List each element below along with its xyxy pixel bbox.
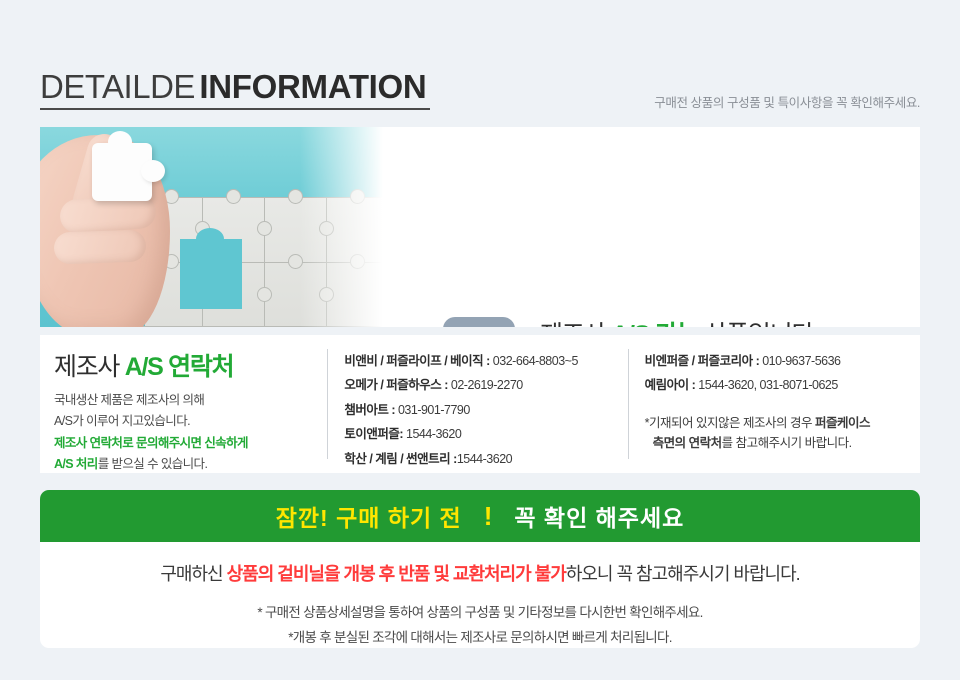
contact-footnote-bold-2: 측면의 연락처 — [653, 436, 722, 450]
contact-phone: 031-901-7790 — [395, 403, 470, 417]
notice-sub-line-2: *개봉 후 분실된 조각에 대해서는 제조사로 문의하시면 빠르게 처리됩니다. — [40, 626, 920, 651]
contact-description-line-4: A/S 처리를 받으실 수 있습니다. — [54, 454, 327, 475]
notice-sub-line-1: * 구매전 상품상세설명을 통하여 상품의 구성품 및 기타정보를 다시한번 확… — [40, 601, 920, 626]
contact-description: 국내생산 제품은 제조사의 의해 A/S가 이루어 지고있습니다. 제조사 연락… — [54, 390, 327, 475]
notice-main-line: 구매하신 상품의 겉비닐을 개봉 후 반품 및 교환처리가 불가하오니 꼭 참고… — [40, 562, 920, 587]
contact-name: 챔버아트 : — [344, 403, 395, 417]
contact-row: 학산 / 계림 / 썬앤트리 :1544-3620 — [344, 447, 627, 471]
gears-icon — [443, 317, 515, 327]
hero-text-block: 제조사 A/S 가능 상품입니다. 각 브랜드 제조사에서 직접 처리를 해드리… — [540, 315, 920, 327]
contact-name: 비엔퍼즐 / 퍼즐코리아 : — [645, 354, 760, 368]
hero-heading-green: A/S 가능 — [611, 321, 698, 327]
contact-footnote-rest: 를 참고해주시기 바랍니다. — [722, 436, 852, 450]
contact-phone: 02-2619-2270 — [448, 378, 523, 392]
contact-row: 비엔퍼즐 / 퍼즐코리아 : 010-9637-5636 — [645, 349, 920, 373]
exclamation-icon: ! — [484, 501, 493, 532]
banner-white-text: 꼭 확인 해주세요 — [514, 499, 684, 533]
contact-phone: 032-664-8803~5 — [490, 354, 578, 368]
contact-name: 예림아이 : — [645, 378, 696, 392]
contact-row: 예림아이 : 1544-3620, 031-8071-0625 — [645, 373, 920, 397]
contact-row: 토이앤퍼즐: 1544-3620 — [344, 422, 627, 446]
contact-description-line-2: A/S가 이루어 지고있습니다. — [54, 411, 327, 432]
contact-phone: 1544-3620 — [457, 452, 512, 466]
notice-main-pre: 구매하신 — [160, 564, 226, 584]
contact-description-line-4-green: A/S 처리 — [54, 457, 98, 471]
contact-footnote: *기재되어 있지않은 제조사의 경우 퍼즐케이스 측면의 연락처를 참고해주시기… — [645, 413, 920, 453]
puzzle-photo — [40, 127, 390, 327]
hand-photo — [40, 135, 170, 327]
page-title: DETAILDE INFORMATION — [40, 68, 430, 110]
manufacturer-contact-section: 제조사 A/S 연락처 국내생산 제품은 제조사의 의해 A/S가 이루어 지고… — [40, 335, 920, 473]
contact-name: 학산 / 계림 / 썬앤트리 : — [344, 452, 456, 466]
puzzle-missing-slot — [180, 239, 242, 309]
contact-name: 오메가 / 퍼즐하우스 : — [344, 378, 448, 392]
held-puzzle-piece — [92, 143, 152, 201]
contact-list-right: 비엔퍼즐 / 퍼즐코리아 : 010-9637-5636 예림아이 : 1544… — [629, 335, 920, 473]
page-header: DETAILDE INFORMATION 구매전 상품의 구성품 및 특이사항을… — [40, 68, 920, 116]
banner-yellow-text: 잠깐! 구매 하기 전 — [276, 499, 462, 533]
contact-footnote-pre: *기재되어 있지않은 제조사의 경우 — [645, 416, 815, 430]
page-title-bold: INFORMATION — [199, 68, 426, 105]
product-detail-page: DETAILDE INFORMATION 구매전 상품의 구성품 및 특이사항을… — [0, 0, 960, 680]
purchase-warning-banner: 잠깐! 구매 하기 전 ! 꼭 확인 해주세요 — [40, 490, 920, 542]
return-policy-notice: 구매하신 상품의 겉비닐을 개봉 후 반품 및 교환처리가 불가하오니 꼭 참고… — [40, 542, 920, 648]
header-note: 구매전 상품의 구성품 및 특이사항을 꼭 확인해주세요. — [654, 92, 920, 111]
contact-footnote-line-2: 측면의 연락처를 참고해주시기 바랍니다. — [645, 433, 920, 453]
photo-fade-overlay — [300, 127, 390, 327]
notice-sub-lines: * 구매전 상품상세설명을 통하여 상품의 구성품 및 기타정보를 다시한번 확… — [40, 601, 920, 651]
contact-row: 비앤비 / 퍼즐라이프 / 베이직 : 032-664-8803~5 — [344, 349, 627, 373]
contact-footnote-bold-1: 퍼즐케이스 — [815, 416, 870, 430]
contact-name: 토이앤퍼즐: — [344, 427, 403, 441]
notice-main-red: 상품의 겉비닐을 개봉 후 반품 및 교환처리가 불가 — [227, 564, 566, 584]
contact-list-left: 비앤비 / 퍼즐라이프 / 베이직 : 032-664-8803~5 오메가 /… — [328, 335, 627, 473]
contact-heading-green: A/S 연락처 — [125, 353, 234, 381]
contact-heading-pre: 제조사 — [54, 353, 125, 381]
hero-heading-pre: 제조사 — [540, 321, 611, 327]
hero-heading-post: 상품입니다. — [699, 321, 820, 327]
contact-heading-column: 제조사 A/S 연락처 국내생산 제품은 제조사의 의해 A/S가 이루어 지고… — [40, 335, 327, 473]
hero-section: 제조사 A/S 가능 상품입니다. 각 브랜드 제조사에서 직접 처리를 해드리… — [40, 127, 920, 327]
contact-heading: 제조사 A/S 연락처 — [54, 347, 327, 383]
contact-description-line-4-rest: 를 받으실 수 있습니다. — [98, 457, 208, 471]
contact-phone: 1544-3620, 031-8071-0625 — [695, 378, 838, 392]
contact-row: 오메가 / 퍼즐하우스 : 02-2619-2270 — [344, 373, 627, 397]
contact-name: 비앤비 / 퍼즐라이프 / 베이직 : — [344, 354, 489, 368]
contact-phone: 010-9637-5636 — [759, 354, 840, 368]
contact-description-line-3: 제조사 연락처로 문의해주시면 신속하게 — [54, 433, 327, 454]
notice-main-post: 하오니 꼭 참고해주시기 바랍니다. — [566, 564, 800, 584]
contact-row: 챔버아트 : 031-901-7790 — [344, 398, 627, 422]
contact-phone: 1544-3620 — [403, 427, 461, 441]
contact-description-line-1: 국내생산 제품은 제조사의 의해 — [54, 390, 327, 411]
page-title-light: DETAILDE — [40, 68, 195, 105]
hero-heading: 제조사 A/S 가능 상품입니다. — [540, 315, 920, 327]
